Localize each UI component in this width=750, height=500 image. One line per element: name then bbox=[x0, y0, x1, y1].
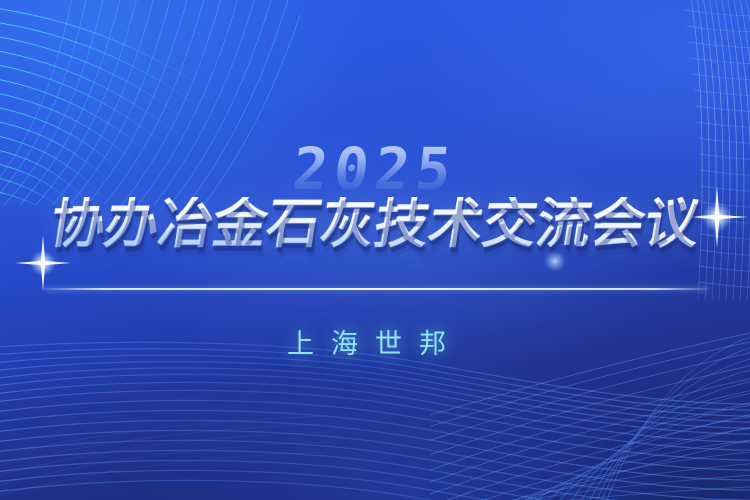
page-title: 协办冶金石灰技术交流会议 bbox=[0, 197, 750, 251]
title-divider bbox=[44, 288, 708, 290]
year-label: 2025 bbox=[290, 140, 460, 198]
glow-bottom bbox=[150, 350, 670, 500]
main-title-text: 协办冶金石灰技术交流会议 bbox=[47, 197, 704, 251]
wave-mesh-bottom-left bbox=[0, 342, 750, 500]
hatch-bottom bbox=[0, 416, 330, 500]
year-block: 2025 bbox=[0, 140, 750, 198]
subtitle: 上海世邦 bbox=[0, 322, 750, 361]
conference-banner: 2025 协办冶金石灰技术交流会议 上海世邦 bbox=[0, 0, 750, 500]
subtitle-text: 上海世邦 bbox=[287, 329, 463, 359]
